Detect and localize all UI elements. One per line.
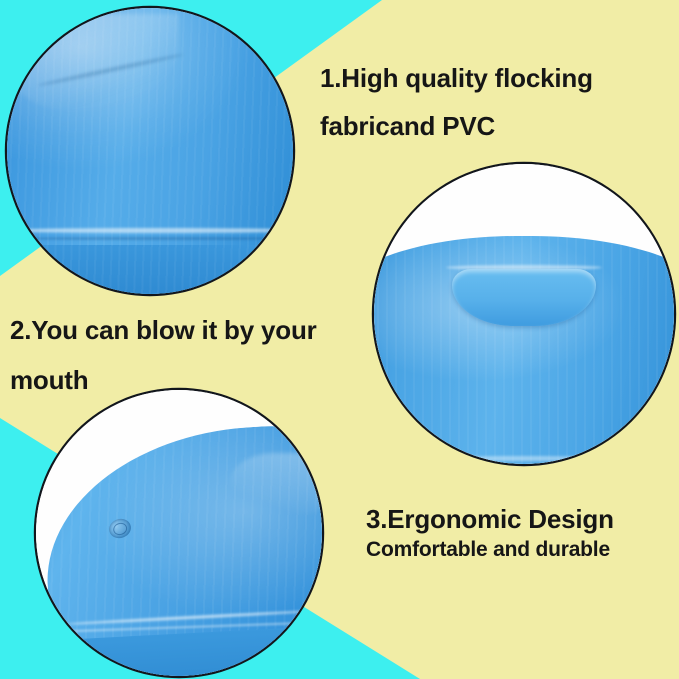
infographic-canvas: 1.High quality flocking fabricand PVC 2.…	[0, 0, 679, 679]
photo-inner-top-left	[7, 8, 293, 294]
product-photo-pillow-valve-detail	[36, 390, 322, 676]
product-photo-pillow-front-view	[374, 164, 674, 464]
feature-caption-3: 3.Ergonomic Design Comfortable and durab…	[366, 503, 676, 565]
feature-caption-1-line-2: fabricand PVC	[320, 102, 670, 150]
pillow-bottom-seam	[422, 456, 626, 461]
photo-inner-bottom-left	[36, 390, 322, 676]
flocking-texture-stripes	[7, 8, 293, 294]
feature-caption-1: 1.High quality flocking fabricand PVC	[320, 54, 670, 150]
product-photo-inflated-pillow-closeup	[7, 8, 293, 294]
feature-caption-3-subheading: Comfortable and durable	[366, 535, 676, 565]
feature-caption-2-line-2: mouth	[10, 355, 370, 405]
photo-inner-mid-right	[374, 164, 674, 464]
feature-caption-1-line-1: 1.High quality flocking	[320, 54, 670, 102]
feature-caption-2-line-1: 2.You can blow it by your	[10, 305, 370, 355]
feature-caption-2: 2.You can blow it by your mouth	[10, 305, 370, 405]
feature-caption-3-heading: 3.Ergonomic Design	[366, 503, 676, 535]
